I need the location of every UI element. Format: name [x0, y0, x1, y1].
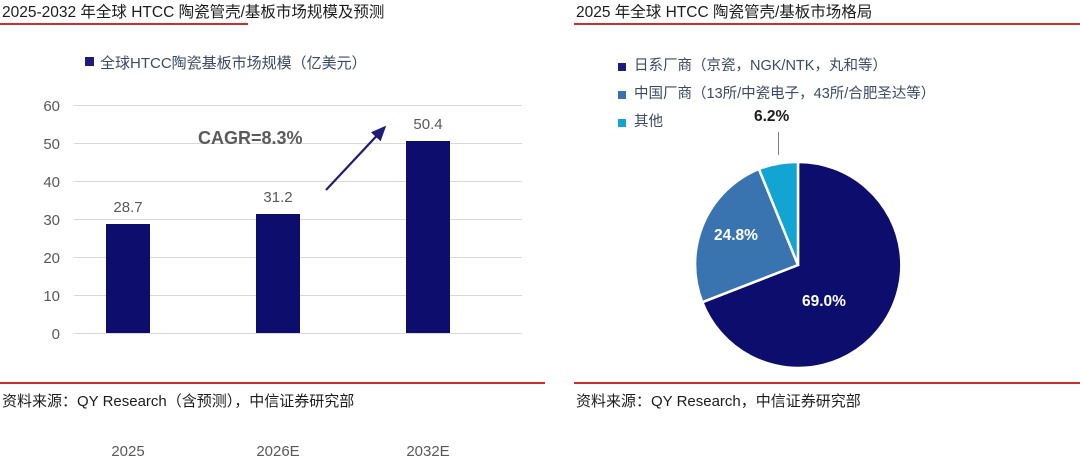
left-source-rule	[0, 382, 545, 384]
left-chart-panel: 2025-2032 年全球 HTCC 陶瓷管壳/基板市场规模及预测 全球HTCC…	[0, 0, 545, 417]
right-source-note: 资料来源：QY Research，中信证券研究部	[576, 390, 861, 411]
pie-leader-line	[778, 132, 779, 155]
pie-legend-item-japan[interactable]: 日系厂商（京瓷，NGK/NTK，丸和等）	[618, 52, 935, 80]
gridline-0	[74, 333, 522, 334]
pie-legend-item-china[interactable]: 中国厂商（13所/中瓷电子，43所/合肥圣达等）	[618, 80, 935, 108]
legend-swatch-other-icon	[618, 119, 626, 127]
bar-2032E[interactable]	[406, 141, 450, 333]
legend-swatch-china-icon	[618, 91, 626, 99]
cagr-arrow-icon	[320, 118, 400, 203]
bar-2025[interactable]	[106, 224, 150, 333]
bar-value-2032E: 50.4	[388, 116, 468, 133]
y-axis-tick-30: 30	[12, 213, 60, 228]
pie-value-japan: 69.0%	[802, 293, 846, 311]
figure-container: 2025-2032 年全球 HTCC 陶瓷管壳/基板市场规模及预测 全球HTCC…	[0, 0, 1080, 417]
right-title-rule	[574, 23, 1080, 25]
gridline-40	[74, 181, 522, 182]
bar-value-2026E: 31.2	[238, 189, 318, 206]
y-axis-tick-20: 20	[12, 251, 60, 266]
bar-value-2025: 28.7	[88, 199, 168, 216]
pie-legend-label-china: 中国厂商（13所/中瓷电子，43所/合肥圣达等）	[634, 86, 935, 102]
gridline-60	[74, 105, 522, 106]
bar-chart-legend: 全球HTCC陶瓷基板市场规模（亿美元）	[85, 52, 367, 73]
pie-value-other: 6.2%	[754, 108, 789, 126]
x-axis-tick-2032E: 2032E	[373, 443, 483, 460]
right-source-rule	[574, 382, 1080, 384]
right-chart-panel: 2025 年全球 HTCC 陶瓷管壳/基板市场格局 日系厂商（京瓷，NGK/NT…	[566, 0, 1080, 417]
right-panel-title: 2025 年全球 HTCC 陶瓷管壳/基板市场格局	[576, 0, 872, 22]
legend-swatch-japan-icon	[618, 63, 626, 71]
y-axis-tick-60: 60	[12, 99, 60, 114]
y-axis-tick-50: 50	[12, 137, 60, 152]
pie-legend-label-other: 其他	[634, 114, 663, 130]
left-panel-title: 2025-2032 年全球 HTCC 陶瓷管壳/基板市场规模及预测	[2, 0, 384, 22]
bar-legend-label: 全球HTCC陶瓷基板市场规模（亿美元）	[100, 55, 367, 72]
left-title-rule	[0, 23, 248, 25]
x-axis-tick-2025: 2025	[73, 443, 183, 460]
pie-legend-label-japan: 日系厂商（京瓷，NGK/NTK，丸和等）	[634, 58, 887, 74]
pie-svg	[690, 150, 910, 370]
y-axis-tick-40: 40	[12, 175, 60, 190]
pie-chart: 69.0% 24.8% 6.2%	[690, 150, 910, 370]
pie-value-china: 24.8%	[714, 227, 758, 245]
legend-swatch-icon	[85, 57, 94, 66]
cagr-annotation: CAGR=8.3%	[198, 128, 303, 149]
x-axis-tick-2026E: 2026E	[223, 443, 333, 460]
bar-2026E[interactable]	[256, 214, 300, 333]
y-axis-tick-10: 10	[12, 289, 60, 304]
left-source-note: 资料来源：QY Research（含预测），中信证券研究部	[2, 390, 354, 411]
y-axis-tick-0: 0	[12, 327, 60, 342]
